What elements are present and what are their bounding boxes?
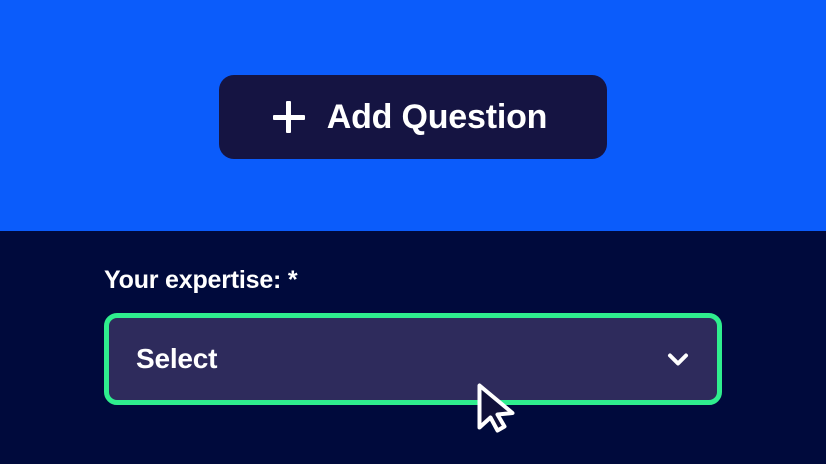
header-band: Add Question	[0, 0, 826, 231]
chevron-down-icon	[665, 346, 691, 372]
add-question-label: Add Question	[327, 100, 547, 134]
expertise-select[interactable]: Select	[104, 313, 722, 405]
expertise-field-label: Your expertise: *	[104, 268, 297, 293]
screen-root: Add Question Your expertise: * Select	[0, 0, 826, 464]
plus-icon	[273, 101, 305, 133]
add-question-button[interactable]: Add Question	[219, 75, 607, 159]
expertise-select-value: Select	[136, 345, 665, 373]
form-body: Your expertise: * Select	[0, 231, 826, 464]
